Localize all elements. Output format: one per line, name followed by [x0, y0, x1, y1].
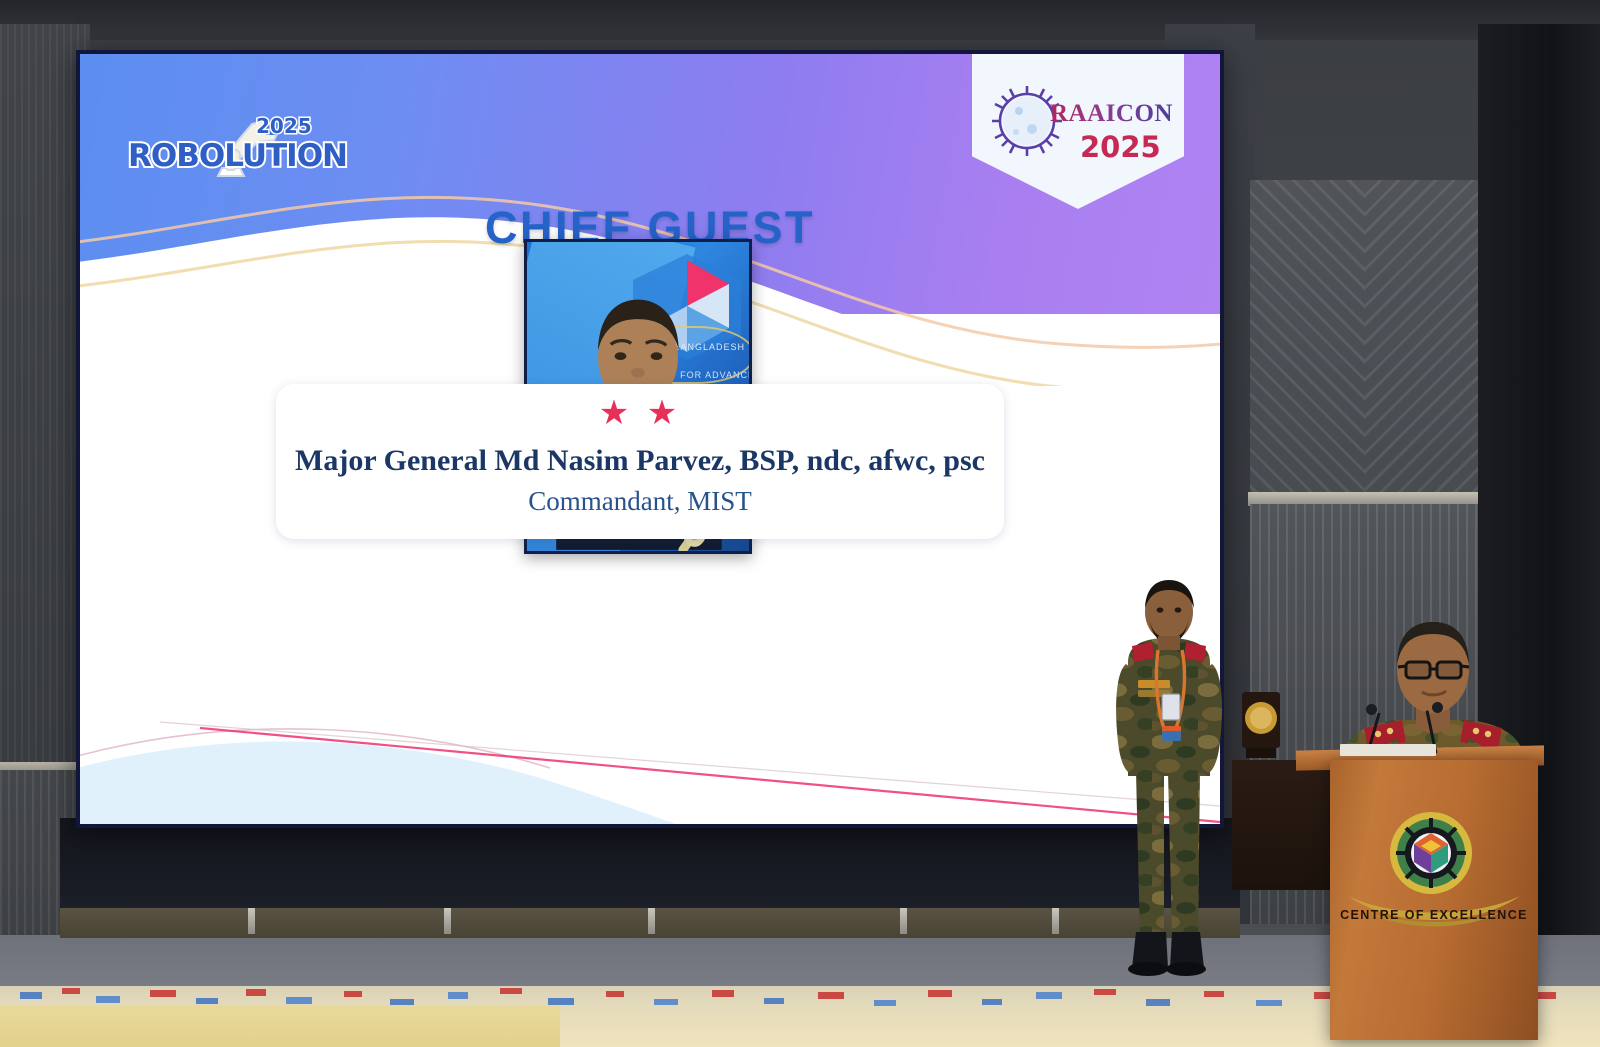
chief-guest-name: Major General Md Nasim Parvez, BSP, ndc,… — [276, 444, 1004, 478]
robolution-year: 2025 — [256, 114, 312, 138]
conference-hall-scene: ROBOLUTION 2025 — [0, 0, 1600, 1047]
microphone-head — [1432, 702, 1443, 713]
stage-leg — [900, 908, 907, 934]
raaicon-wordmark: RAAICON — [1050, 100, 1173, 128]
stage-leg — [648, 908, 655, 934]
robolution-wordmark: ROBOLUTION — [128, 138, 347, 174]
microphone-head — [1366, 704, 1377, 715]
slide-accent-line — [80, 694, 1220, 824]
stage-leg — [444, 908, 451, 934]
raaicon-year: 2025 — [1080, 130, 1161, 164]
podium[interactable] — [1330, 760, 1538, 1040]
podium-papers — [1340, 744, 1436, 756]
chief-guest-role: Commandant, MIST — [276, 486, 1004, 517]
trophy-plaque — [1240, 690, 1282, 762]
ceiling-band — [0, 0, 1600, 40]
presentation-slide: ROBOLUTION 2025 — [80, 54, 1220, 824]
rank-stars: ★ ★ — [276, 396, 1004, 430]
chief-guest-name-card: ★ ★ Major General Md Nasim Parvez, BSP, … — [276, 384, 1004, 539]
standing-soldier — [1106, 576, 1232, 992]
projection-screen[interactable]: ROBOLUTION 2025 — [76, 50, 1224, 828]
podium-plaque-text: CENTRE OF EXCELLENCE — [1330, 908, 1538, 922]
robolution-logo: ROBOLUTION 2025 — [128, 112, 338, 182]
stage-leg — [248, 908, 255, 934]
stage-leg — [1052, 908, 1059, 934]
centre-of-excellence-crest — [1388, 810, 1474, 896]
